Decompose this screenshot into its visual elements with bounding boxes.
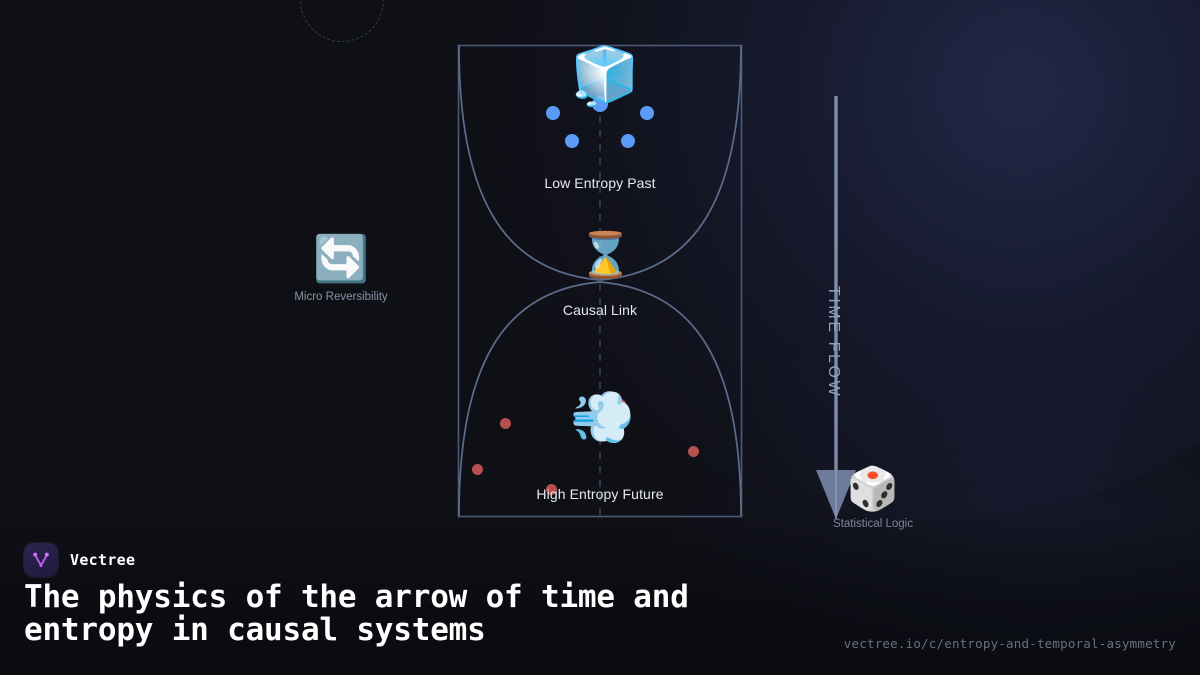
cold-particle [565, 134, 579, 148]
cold-particle [621, 134, 635, 148]
source-url: vectree.io/c/entropy-and-temporal-asymme… [844, 636, 1176, 651]
decorative-dashed-circle [300, 0, 384, 42]
wind-cloud-icon: 💨 [570, 392, 630, 444]
hot-particle [688, 446, 699, 457]
counterclockwise-arrows-icon: 🔄 [266, 236, 416, 281]
ice-cube-icon: 🧊 [570, 48, 630, 104]
hourglass-icon: ⌛ [578, 234, 622, 278]
game-die-icon: 🎲 [844, 468, 902, 510]
headline: The physics of the arrow of time and ent… [24, 581, 824, 648]
node-label-low-entropy-past: Low Entropy Past [480, 175, 720, 191]
footer: Vectree The physics of the arrow of time… [0, 535, 1200, 675]
vectree-logo-icon [24, 543, 58, 577]
cold-particle [640, 106, 654, 120]
node-label-high-entropy-future: High Entropy Future [480, 486, 720, 502]
node-label-causal-link: Causal Link [480, 302, 720, 318]
hot-particle [500, 418, 511, 429]
hot-particle [472, 464, 483, 475]
cold-particle [546, 106, 560, 120]
brand-name: Vectree [70, 551, 135, 569]
annotation-statistical-logic: 🎲 Statistical Logic [798, 468, 948, 530]
annotation-label-statistical-logic: Statistical Logic [798, 518, 948, 530]
annotation-micro-reversibility: 🔄 Micro Reversibility [266, 236, 416, 303]
annotation-label-micro-reversibility: Micro Reversibility [266, 291, 416, 303]
brand-block: Vectree [24, 543, 135, 577]
time-flow-label: TIME FLOW [824, 286, 842, 398]
slide-canvas: 🧊 ⌛ 💨 Low Entropy Past Causal Link High … [0, 0, 1200, 675]
